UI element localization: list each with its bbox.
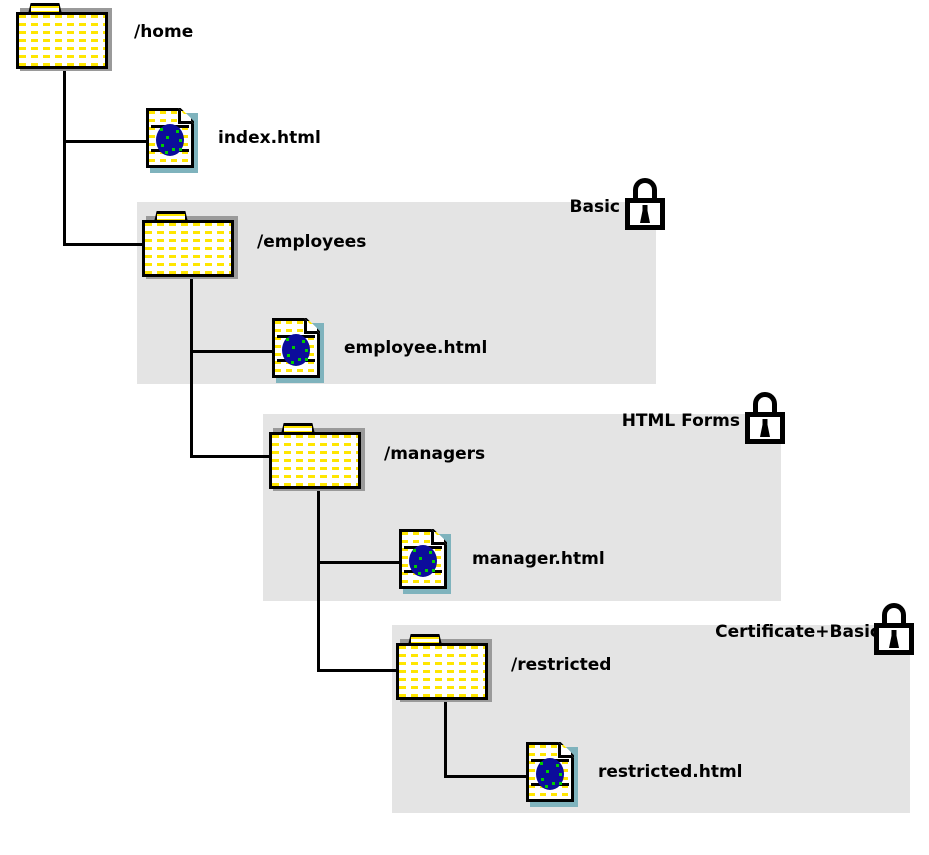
- connector-home-to-employees: [63, 243, 147, 246]
- padlock-icon: [625, 178, 665, 230]
- connector-employees-trunk: [190, 268, 193, 458]
- connector-managers-to-manager: [317, 561, 405, 564]
- connector-restricted-trunk: [444, 692, 447, 778]
- folder-icon: [269, 423, 361, 489]
- node-employees[interactable]: [142, 211, 234, 277]
- label-managers: /managers: [384, 444, 485, 464]
- connector-home-trunk: [63, 66, 66, 246]
- html-file-icon: [526, 742, 576, 805]
- folder-icon: [396, 634, 488, 700]
- folder-icon: [142, 211, 234, 277]
- connector-restricted-to-file: [444, 775, 532, 778]
- label-manager-html: manager.html: [472, 549, 605, 569]
- label-employee-html: employee.html: [344, 338, 487, 358]
- padlock-icon-employees: [625, 178, 665, 230]
- node-employee-html[interactable]: [272, 318, 322, 381]
- label-restricted-html: restricted.html: [598, 762, 743, 782]
- label-home: /home: [134, 22, 193, 42]
- html-file-icon: [399, 529, 449, 592]
- node-home[interactable]: [16, 3, 108, 69]
- connector-home-to-index: [63, 140, 151, 143]
- folder-icon: [16, 3, 108, 69]
- padlock-icon: [745, 392, 785, 444]
- padlock-icon-managers: [745, 392, 785, 444]
- node-restricted-dir[interactable]: [396, 634, 488, 700]
- connector-employees-to-managers: [190, 455, 275, 458]
- padlock-icon: [874, 603, 914, 655]
- node-restricted-html[interactable]: [526, 742, 576, 805]
- node-manager-html[interactable]: [399, 529, 449, 592]
- node-managers[interactable]: [269, 423, 361, 489]
- padlock-icon-restricted: [874, 603, 914, 655]
- html-file-icon: [146, 108, 196, 171]
- label-index-html: index.html: [218, 128, 321, 148]
- zone-label-certificate-basic: Certificate+Basic: [600, 622, 880, 642]
- diagram-canvas: /home index.html /employees: [0, 0, 929, 855]
- zone-label-basic: Basic: [470, 197, 620, 217]
- connector-employees-to-employee: [190, 350, 278, 353]
- html-file-icon: [272, 318, 322, 381]
- connector-managers-trunk: [317, 480, 320, 672]
- zone-label-html-forms: HTML Forms: [530, 411, 740, 431]
- node-index-html[interactable]: [146, 108, 196, 171]
- label-restricted-dir: /restricted: [511, 655, 611, 675]
- label-employees: /employees: [257, 232, 366, 252]
- connector-managers-to-restricted: [317, 669, 402, 672]
